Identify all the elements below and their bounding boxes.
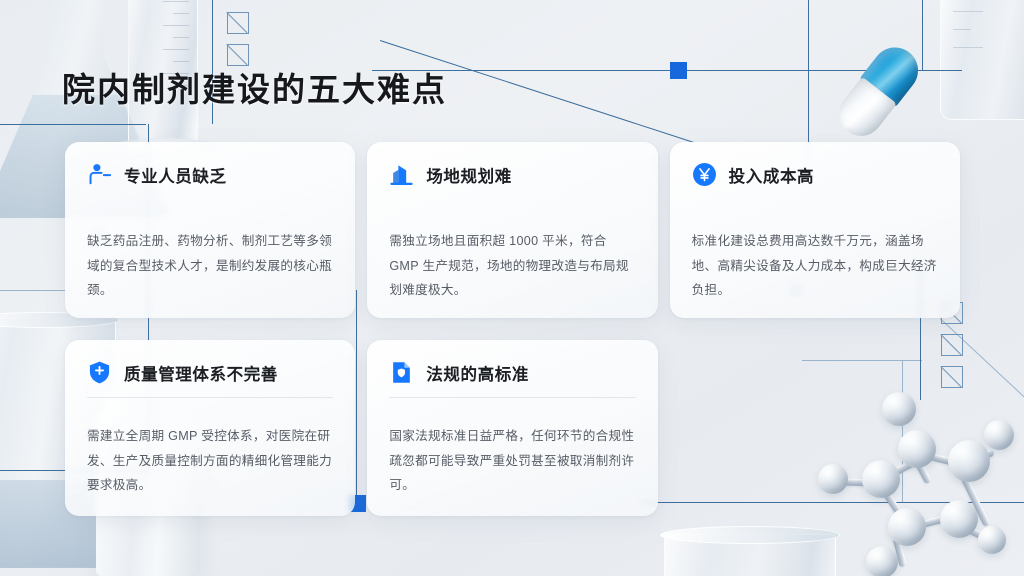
schematic-line: [808, 0, 809, 140]
shield-plus-icon: [87, 360, 112, 385]
capsule-pill-icon: [831, 38, 928, 144]
card-site-planning[interactable]: 场地规划难 需独立场地且面积超 1000 平米，符合 GMP 生产规范，场地的物…: [367, 142, 657, 318]
card-header: 投入成本高: [692, 162, 938, 187]
user-minus-icon: [87, 162, 112, 187]
page-title: 院内制剂建设的五大难点: [62, 63, 447, 111]
schematic-line: [0, 290, 70, 291]
building-icon: [389, 162, 414, 187]
card-talent-shortage[interactable]: 专业人员缺乏 缺乏药品注册、药物分析、制剂工艺等多领域的复合型技术人才，是制约发…: [65, 142, 355, 318]
card-regulatory-standard[interactable]: 法规的高标准 国家法规标准日益严格，任何环节的合规性疏忽都可能导致严重处罚甚至被…: [367, 340, 657, 516]
card-divider: [389, 397, 635, 398]
schematic-line: [922, 0, 923, 70]
card-title: 法规的高标准: [426, 361, 529, 385]
card-header: 场地规划难: [389, 162, 635, 187]
outline-square-icon: [227, 12, 249, 34]
card-divider: [87, 397, 333, 398]
schematic-line: [0, 124, 146, 125]
node-marker: [670, 62, 687, 79]
card-title: 质量管理体系不完善: [124, 361, 278, 385]
card-body: 标准化建设总费用高达数千万元，涵盖场地、高精尖设备及人力成本，构成巨大经济负担。: [692, 229, 938, 303]
card-title: 投入成本高: [729, 163, 815, 187]
card-body: 国家法规标准日益严格，任何环节的合规性疏忽都可能导致严重处罚甚至被取消制剂许可。: [389, 424, 635, 498]
yuan-circle-icon: [692, 162, 717, 187]
card-header: 质量管理体系不完善: [87, 360, 333, 385]
card-body: 缺乏药品注册、药物分析、制剂工艺等多领域的复合型技术人才，是制约发展的核心瓶颈。: [87, 229, 333, 303]
card-quality-system[interactable]: 质量管理体系不完善 需建立全周期 GMP 受控体系，对医院在研发、生产及质量控制…: [65, 340, 355, 516]
card-title: 专业人员缺乏: [124, 163, 227, 187]
difficulty-card-grid: 专业人员缺乏 缺乏药品注册、药物分析、制剂工艺等多领域的复合型技术人才，是制约发…: [65, 142, 960, 516]
card-header: 法规的高标准: [389, 360, 635, 385]
beaker-right: [940, 0, 1024, 120]
document-shield-icon: [389, 360, 414, 385]
card-title: 场地规划难: [426, 163, 512, 187]
card-high-cost[interactable]: 投入成本高 标准化建设总费用高达数千万元，涵盖场地、高精尖设备及人力成本，构成巨…: [670, 142, 960, 318]
card-body: 需独立场地且面积超 1000 平米，符合 GMP 生产规范，场地的物理改造与布局…: [389, 229, 635, 303]
card-body: 需建立全周期 GMP 受控体系，对医院在研发、生产及质量控制方面的精细化管理能力…: [87, 424, 333, 498]
card-header: 专业人员缺乏: [87, 162, 333, 187]
